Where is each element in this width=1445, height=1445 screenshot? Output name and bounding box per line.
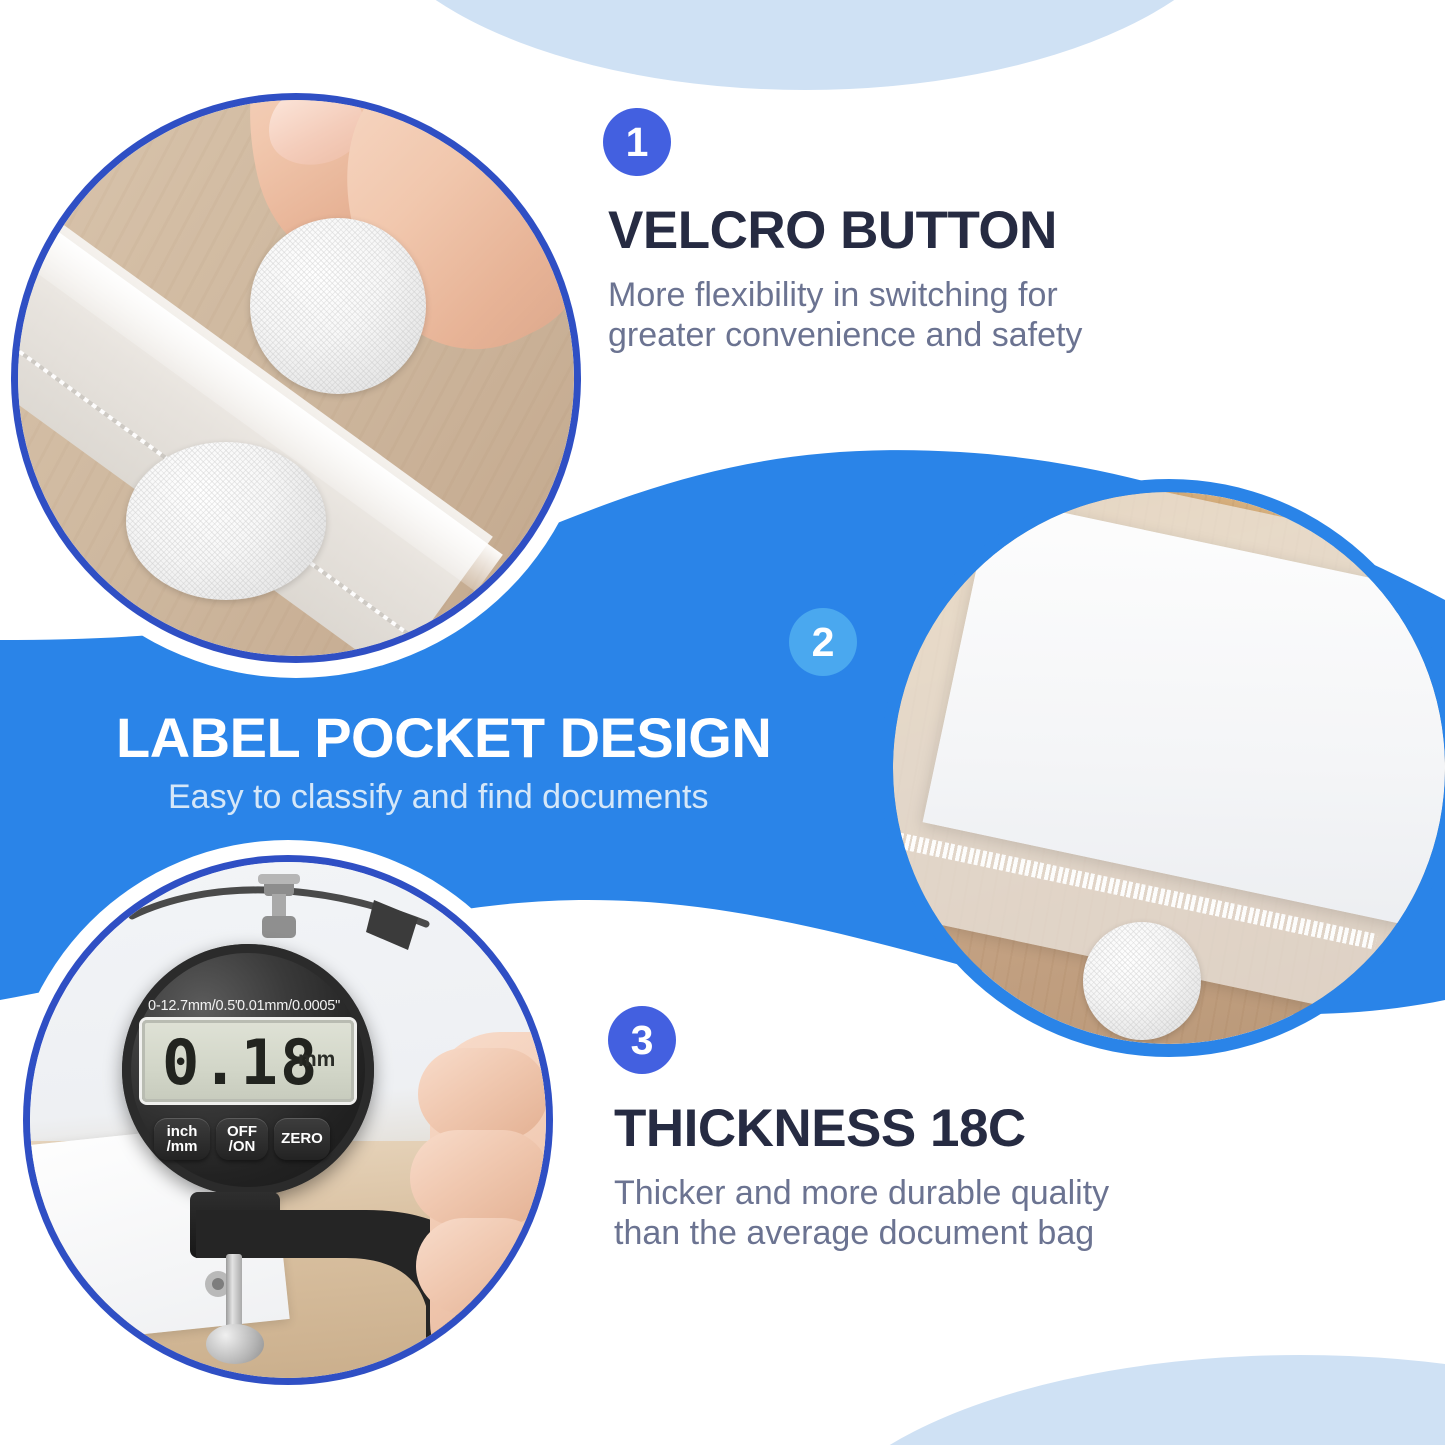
step-badge-2-number: 2 bbox=[812, 619, 835, 666]
feature-1-subtitle: More flexibility in switching for greate… bbox=[608, 276, 1248, 356]
gauge-anvil-tip bbox=[206, 1324, 264, 1364]
gauge-reading-unit: mm bbox=[298, 1048, 335, 1072]
step-badge-3-number: 3 bbox=[631, 1017, 654, 1064]
step-badge-2: 2 bbox=[789, 608, 857, 676]
gauge-button-inch-mm-label: inch/mm bbox=[167, 1124, 198, 1155]
photo-velcro-button bbox=[18, 100, 574, 656]
feature-1-subtitle-line1: More flexibility in switching for bbox=[608, 276, 1058, 314]
feature-3-subtitle-line1: Thicker and more durable quality bbox=[614, 1174, 1109, 1212]
step-badge-1: 1 bbox=[603, 108, 671, 176]
gauge-range-label: 0-12.7mm/0.5" bbox=[148, 998, 240, 1014]
photo-label-pocket bbox=[893, 492, 1445, 1044]
feature-1-subtitle-line2: greater convenience and safety bbox=[608, 316, 1082, 354]
gauge-resolution-label: 0.01mm/0.0005" bbox=[237, 998, 340, 1014]
step-badge-3: 3 bbox=[608, 1006, 676, 1074]
feature-3-subtitle: Thicker and more durable quality than th… bbox=[614, 1174, 1294, 1254]
gauge-button-off-on-label: OFF/ON bbox=[227, 1124, 257, 1155]
gauge-button-inch-mm[interactable]: inch/mm bbox=[154, 1118, 210, 1160]
step-badge-1-number: 1 bbox=[626, 119, 649, 166]
feature-3-subtitle-line2: than the average document bag bbox=[614, 1214, 1094, 1252]
feature-2-title: LABEL POCKET DESIGN bbox=[116, 705, 771, 770]
velcro-dot-on-bag bbox=[1083, 922, 1201, 1040]
feature-3-title: THICKNESS 18C bbox=[614, 1098, 1026, 1159]
infographic-canvas: 0-12.7mm/0.5" 0.01mm/0.0005" 0.18 mm inc… bbox=[0, 0, 1445, 1445]
gauge-button-zero-label: ZERO bbox=[281, 1131, 323, 1146]
finger-knuckle-3 bbox=[416, 1218, 546, 1314]
finger-knuckle-2 bbox=[410, 1130, 546, 1226]
photo-thickness-gauge: 0-12.7mm/0.5" 0.01mm/0.0005" 0.18 mm inc… bbox=[30, 862, 546, 1378]
velcro-dot-lower bbox=[126, 442, 326, 600]
velcro-dot-upper bbox=[250, 218, 426, 394]
feature-1-title: VELCRO BUTTON bbox=[608, 200, 1057, 261]
gauge-button-zero[interactable]: ZERO bbox=[274, 1118, 330, 1160]
gauge-button-off-on[interactable]: OFF/ON bbox=[216, 1118, 268, 1160]
gauge-reading-value: 0.18 bbox=[162, 1026, 319, 1099]
feature-2-subtitle: Easy to classify and find documents bbox=[168, 778, 709, 817]
finger-knuckle-1 bbox=[418, 1048, 546, 1140]
